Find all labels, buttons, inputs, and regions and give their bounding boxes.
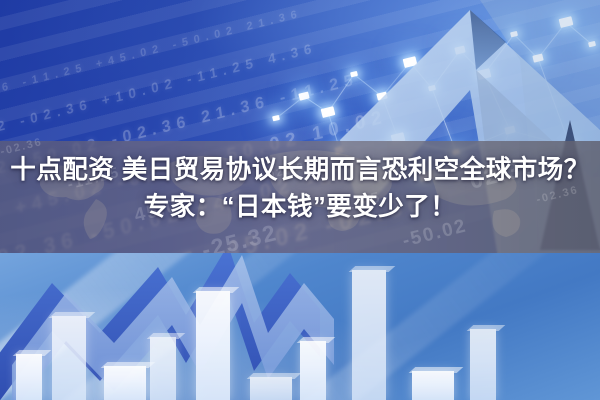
headline-line-2: 专家：“日本钱”要变少了！ [6, 189, 594, 226]
chart-bar [196, 291, 230, 400]
chart-bar [300, 341, 326, 400]
chart-bar [352, 270, 386, 400]
network-node [272, 115, 280, 121]
chart-bar [150, 337, 176, 400]
cover-banner: -02.36 -11.25 +45.02 -50.02 21.36-50.02 … [0, 0, 600, 400]
bottom-chart-area [0, 253, 600, 400]
chart-bar [412, 371, 454, 400]
headline-line-1: 十点配资 美日贸易协议长期而言恐利空全球市场？ [10, 156, 590, 184]
chart-bar [16, 354, 42, 400]
chart-bar [250, 377, 292, 400]
page-title: 十点配资 美日贸易协议长期而言恐利空全球市场？ 专家：“日本钱”要变少了！ [0, 152, 600, 226]
chart-bar [470, 329, 496, 400]
chart-bar [104, 366, 146, 400]
chart-bar [52, 316, 86, 400]
